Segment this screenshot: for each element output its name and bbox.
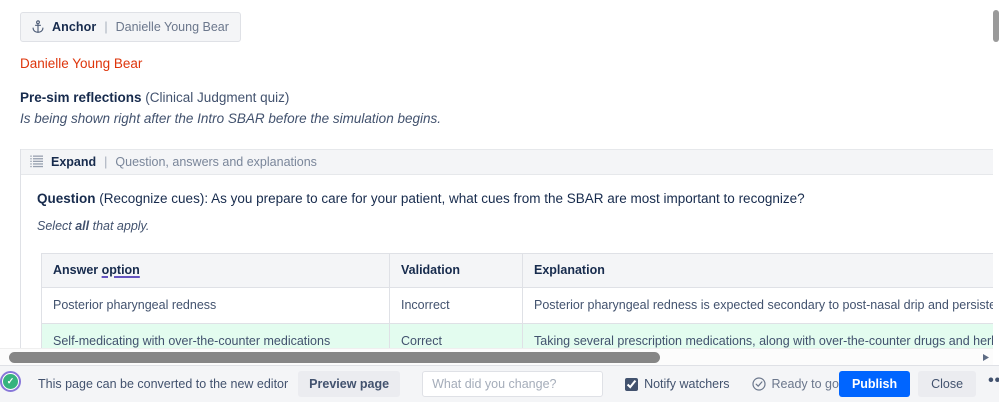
cell-validation[interactable]: Correct bbox=[390, 324, 523, 349]
page-content-scroll-area[interactable]: Anchor | Danielle Young Bear Danielle Yo… bbox=[0, 0, 993, 348]
anchor-macro-label: Anchor bbox=[52, 19, 96, 35]
column-header-explanation[interactable]: Explanation bbox=[523, 254, 994, 288]
close-button[interactable]: Close bbox=[918, 371, 976, 397]
success-check-icon[interactable]: ✓ bbox=[0, 371, 21, 392]
select-all-instruction: Select all that apply. bbox=[37, 219, 993, 233]
column-header-validation[interactable]: Validation bbox=[390, 254, 523, 288]
publish-button[interactable]: Publish bbox=[839, 371, 910, 397]
answer-header-prefix: Answer bbox=[53, 263, 102, 277]
horizontal-scrollbar-track[interactable] bbox=[9, 352, 984, 363]
presim-title: Pre-sim reflections bbox=[20, 90, 142, 105]
select-all-suffix: that apply. bbox=[89, 219, 149, 233]
question-label: Question bbox=[37, 191, 96, 206]
editor-page: Anchor | Danielle Young Bear Danielle Yo… bbox=[0, 0, 999, 402]
list-lines-icon bbox=[30, 155, 43, 169]
change-comment-input[interactable] bbox=[422, 371, 603, 397]
notify-watchers-label: Notify watchers bbox=[644, 377, 729, 391]
ready-to-go-status[interactable]: Ready to go bbox=[752, 377, 839, 391]
expand-macro-title: Expand bbox=[51, 155, 96, 169]
expand-macro-separator: | bbox=[104, 155, 107, 169]
question-text: (Recognize cues): As you prepare to care… bbox=[96, 191, 805, 206]
column-header-answer-option[interactable]: Answer option bbox=[42, 254, 390, 288]
answers-table-body: Posterior pharyngeal redness Incorrect P… bbox=[42, 288, 994, 349]
cell-explanation[interactable]: Taking several prescription medications,… bbox=[523, 324, 994, 349]
answers-table-head: Answer option Validation Explanation bbox=[42, 254, 994, 288]
presim-subtitle: (Clinical Judgment quiz) bbox=[142, 90, 290, 105]
cell-validation[interactable]: Incorrect bbox=[390, 288, 523, 324]
ready-to-go-label: Ready to go bbox=[772, 377, 839, 391]
preview-page-button[interactable]: Preview page bbox=[298, 371, 400, 397]
anchor-macro-value: Danielle Young Bear bbox=[116, 19, 229, 35]
select-all-prefix: Select bbox=[37, 219, 75, 233]
red-heading: Danielle Young Bear bbox=[20, 55, 993, 72]
notify-watchers-checkbox[interactable] bbox=[625, 378, 638, 391]
editor-bottom-bar: ✓ This page can be converted to the new … bbox=[0, 365, 999, 402]
page-content: Anchor | Danielle Young Bear Danielle Yo… bbox=[0, 0, 993, 348]
table-header-row: Answer option Validation Explanation bbox=[42, 254, 994, 288]
success-check-inner: ✓ bbox=[3, 374, 18, 389]
vertical-scrollbar[interactable] bbox=[993, 0, 999, 365]
table-row[interactable]: Posterior pharyngeal redness Incorrect P… bbox=[42, 288, 994, 324]
circle-check-icon bbox=[752, 377, 766, 391]
expand-macro: Expand | Question, answers and explanati… bbox=[20, 149, 993, 348]
convert-editor-message: This page can be converted to the new ed… bbox=[38, 377, 288, 391]
vertical-scrollbar-thumb[interactable] bbox=[993, 10, 999, 42]
table-row[interactable]: Self-medicating with over-the-counter me… bbox=[42, 324, 994, 349]
select-all-emphasis: all bbox=[75, 219, 89, 233]
anchor-icon bbox=[31, 20, 45, 34]
expand-macro-body: Question (Recognize cues): As you prepar… bbox=[21, 175, 993, 348]
horizontal-scrollbar-thumb[interactable] bbox=[9, 352, 660, 363]
expand-macro-subtitle: Question, answers and explanations bbox=[115, 155, 317, 169]
anchor-macro-separator: | bbox=[104, 19, 107, 35]
presim-note: Is being shown right after the Intro SBA… bbox=[20, 109, 993, 129]
answers-table: Answer option Validation Explanation Pos… bbox=[41, 253, 993, 348]
notify-watchers-toggle[interactable]: Notify watchers bbox=[625, 377, 729, 391]
question-paragraph: Question (Recognize cues): As you prepar… bbox=[37, 189, 993, 208]
cell-answer[interactable]: Posterior pharyngeal redness bbox=[42, 288, 390, 324]
anchor-macro[interactable]: Anchor | Danielle Young Bear bbox=[20, 12, 241, 42]
more-options-button[interactable]: ••• bbox=[984, 375, 999, 393]
horizontal-scrollbar[interactable] bbox=[0, 348, 993, 365]
cell-explanation[interactable]: Posterior pharyngeal redness is expected… bbox=[523, 288, 994, 324]
expand-macro-header[interactable]: Expand | Question, answers and explanati… bbox=[21, 149, 993, 175]
play-right-icon[interactable] bbox=[980, 352, 991, 363]
answer-header-underlined: option bbox=[102, 263, 140, 277]
presim-paragraph: Pre-sim reflections (Clinical Judgment q… bbox=[20, 88, 993, 129]
cell-answer[interactable]: Self-medicating with over-the-counter me… bbox=[42, 324, 390, 349]
